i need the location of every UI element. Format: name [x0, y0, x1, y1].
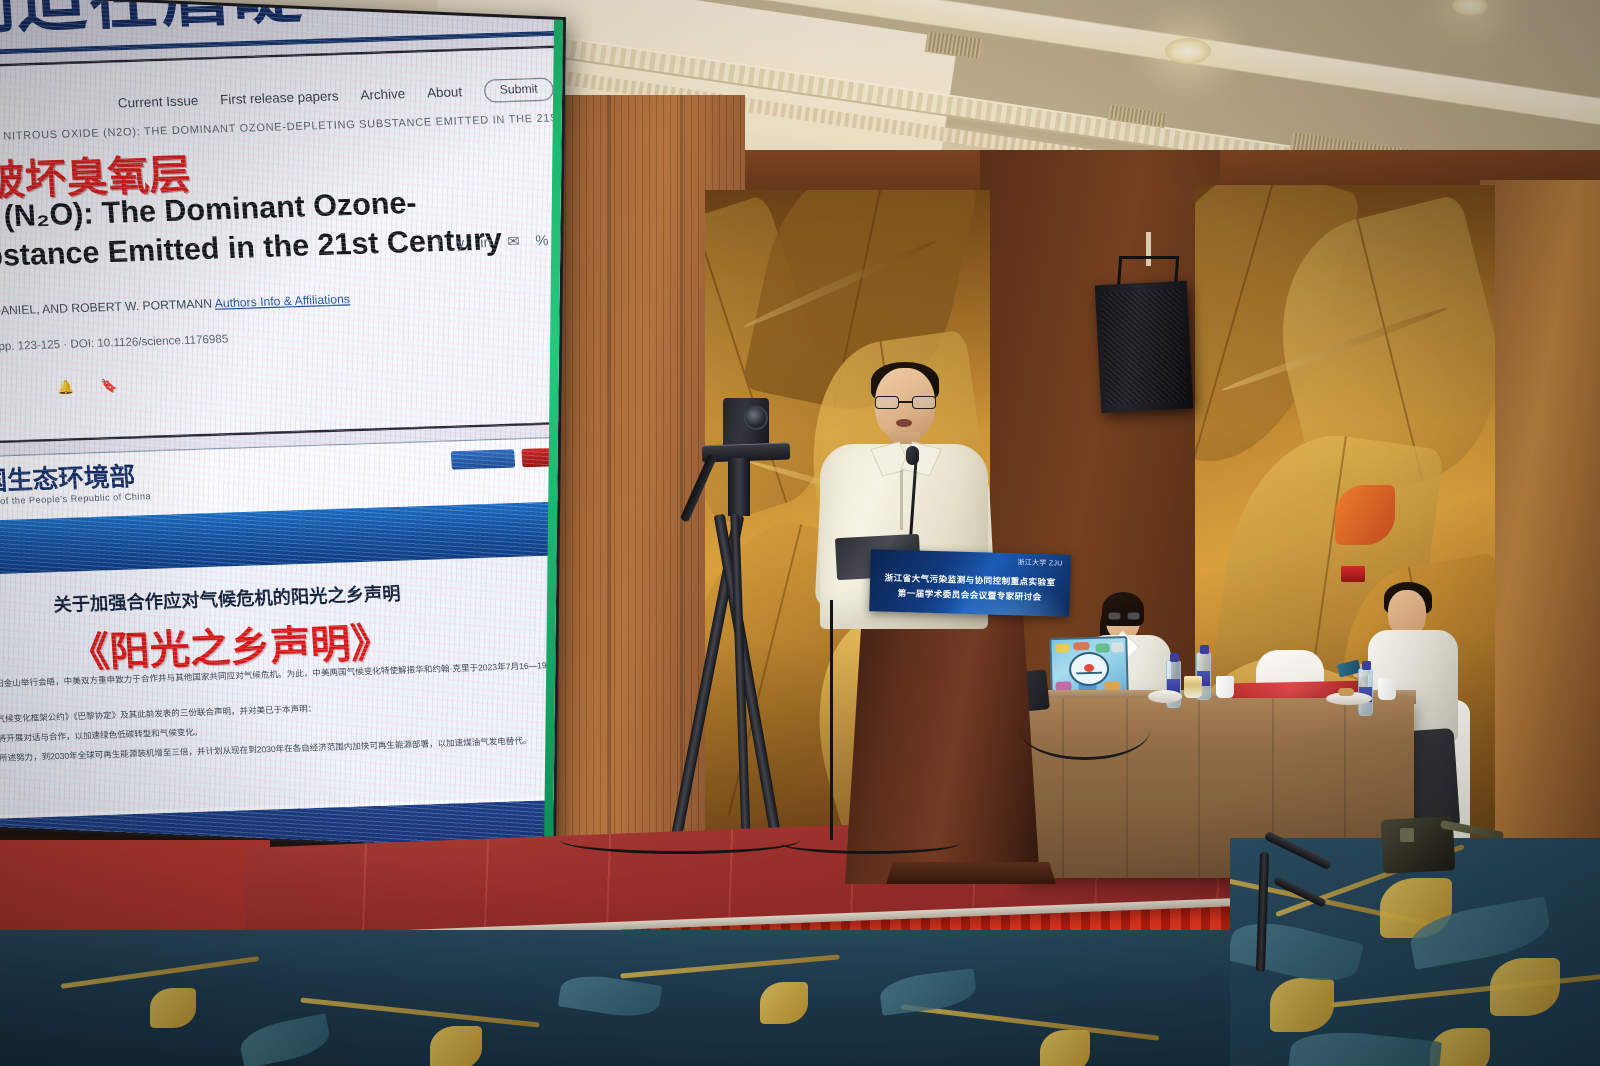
floor-cable	[560, 826, 800, 854]
event-banner-line2: 第一届学术委员会会议暨专家研讨会	[870, 586, 1070, 604]
mee-article-card: 中华人民共和国生态环境部 Ministry of Ecology and Env…	[0, 435, 563, 850]
share-icon[interactable]: %	[535, 232, 549, 250]
nav-first-release[interactable]: First release papers	[220, 89, 339, 108]
presenter-shirt-placket	[900, 470, 903, 530]
article-authors: A. R. RAVISHANKARA, JOHN S. DANIEL, AND …	[0, 285, 492, 328]
pastry	[1338, 688, 1354, 696]
email-icon[interactable]: ✉	[507, 233, 520, 250]
attendee-left-glasses	[1108, 612, 1140, 620]
university-logo-text: 浙江大学 ZJU	[1017, 557, 1062, 568]
twitter-icon[interactable]: y	[456, 234, 464, 251]
conference-room-photo: O控制迫在眉睫 Science Current Issue First rele…	[0, 0, 1600, 1066]
presenter-mouth	[896, 419, 912, 427]
bell-icon[interactable]: 🔔	[57, 379, 75, 395]
science-nav: Current Issue First release papers Archi…	[117, 77, 554, 115]
tea-cup	[1184, 676, 1202, 698]
nav-about[interactable]: About	[427, 85, 463, 101]
social-share-row[interactable]: f y in ✉ %	[437, 232, 549, 253]
article-action-icons[interactable]: 🔔 🔖	[57, 378, 118, 396]
attendee-left-hair	[1102, 592, 1144, 626]
ministry-name-en: Ministry of Ecology and Environment of t…	[0, 491, 151, 513]
linkedin-icon[interactable]: in	[480, 234, 492, 251]
tripod-center-column	[728, 458, 750, 516]
submit-button[interactable]: Submit	[483, 77, 554, 102]
wall-sign-badge	[1341, 566, 1365, 582]
bag-buckle	[1400, 828, 1414, 842]
facebook-icon[interactable]: f	[437, 235, 442, 252]
podium-event-banner: 浙江大学 ZJU 浙江省大气污染监测与协同控制重点实验室 第一届学术委员会会议暨…	[869, 549, 1071, 617]
authors-affiliations-link[interactable]: Authors Info & Affiliations	[214, 293, 350, 311]
paper-cup	[1378, 678, 1396, 700]
banner-logos: 浙江大学 ZJU	[1017, 557, 1062, 568]
wall-cable	[830, 600, 856, 840]
breadcrumb: SCIENCE > VOL. 326, NO. 5949 > NITROUS O…	[0, 111, 561, 148]
pastry-plate	[1148, 690, 1182, 703]
presenter-glasses	[874, 396, 937, 409]
downlight-icon	[1165, 38, 1211, 64]
bookmark-icon[interactable]: 🔖	[100, 378, 118, 394]
gov-badge-blue	[451, 449, 515, 469]
article-meta: 27 Aug 2009 · Vol 326, Issue 5949 · pp. …	[0, 324, 494, 360]
pa-speaker	[1095, 281, 1194, 414]
nav-current-issue[interactable]: Current Issue	[117, 93, 198, 110]
authors-names: A. R. RAVISHANKARA, JOHN S. DANIEL, AND …	[0, 298, 212, 325]
nav-archive[interactable]: Archive	[360, 87, 406, 103]
podium-base	[886, 862, 1056, 884]
article-heading: Nitrous Oxide (N₂O): The Dominant Ozone-…	[0, 181, 530, 282]
paper-cup	[1216, 676, 1234, 698]
floor-cable	[780, 832, 960, 854]
laptop-lid[interactable]	[1049, 636, 1128, 696]
led-presentation-screen: O控制迫在眉睫 Science Current Issue First rele…	[0, 0, 563, 850]
speaker-grille	[1101, 289, 1187, 405]
camera-lens-icon	[744, 406, 768, 430]
mee-article-body: 据悉，习近平主席和拜登大统领将在旧金山举行会晤，中美双方重申致力于合作并与其他国…	[0, 656, 563, 775]
science-article-card: Science Current Issue First release pape…	[0, 45, 563, 449]
microphone-icon	[906, 446, 919, 465]
doraemon-sticker-icon	[1069, 652, 1110, 687]
floor-cable	[1020, 700, 1150, 760]
wood-wall-panel-right	[1480, 180, 1600, 860]
mee-header-badges	[451, 446, 563, 469]
